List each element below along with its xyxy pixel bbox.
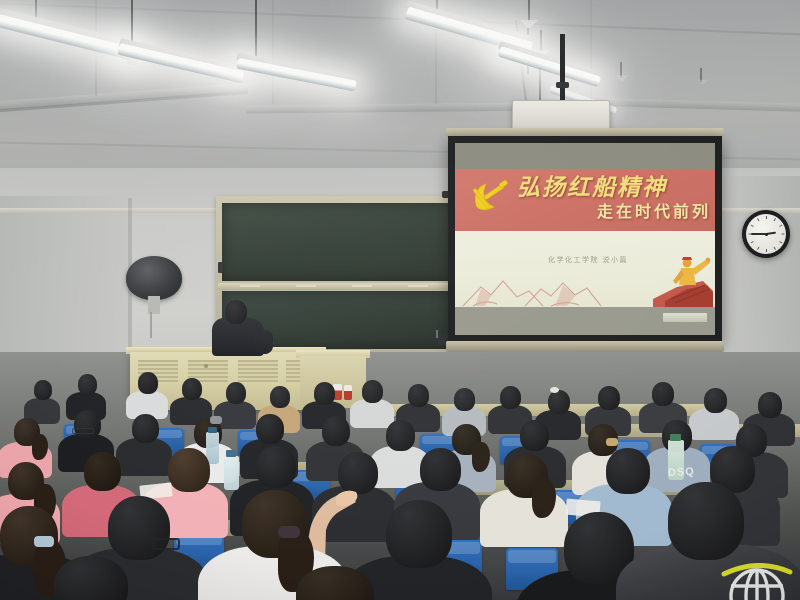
clock-center-hub	[765, 233, 768, 236]
person-head	[408, 384, 429, 407]
person-head	[270, 386, 290, 408]
slide-illustration-figure	[651, 251, 715, 307]
person-head	[168, 448, 210, 492]
person-head	[500, 386, 521, 409]
person-head	[704, 388, 727, 413]
person-head	[548, 390, 570, 414]
hammer-and-sickle-emblem	[471, 177, 511, 219]
globe-icon	[718, 556, 796, 600]
person-head	[34, 380, 52, 400]
blackboard-chalk-rail	[218, 283, 462, 290]
fan-icon	[126, 256, 182, 300]
eyeglasses-icon	[72, 428, 94, 434]
slide-byline: 化学化工学院 说小篇	[523, 255, 653, 265]
chalk-clip	[352, 285, 372, 287]
screen-bottom-bar	[446, 341, 724, 352]
slide-content: 弘扬红船精神 走在时代前列 化学化工学院 说小篇	[455, 143, 715, 335]
chalk-clip	[296, 285, 316, 287]
person-head	[362, 380, 383, 403]
person-head	[520, 420, 549, 451]
person-head	[322, 416, 350, 446]
slide-subtitle: 走在时代前列	[571, 203, 711, 222]
person-head	[138, 372, 158, 394]
person-head	[74, 410, 101, 439]
person-head	[606, 448, 650, 494]
eyeglasses-icon	[152, 538, 180, 550]
person-shoulders	[116, 438, 172, 476]
person-head	[84, 452, 121, 491]
slide-top-band	[455, 143, 715, 169]
bottle-icon	[344, 385, 352, 400]
person-head	[386, 420, 415, 451]
blackboard-upper-panel	[222, 203, 458, 281]
clock-tick	[774, 218, 776, 221]
bottle-cap	[670, 434, 681, 441]
person-head	[386, 500, 452, 568]
person-head	[652, 382, 674, 406]
bottle-cap	[208, 427, 217, 433]
bottle-icon	[224, 456, 239, 490]
person-head	[108, 496, 170, 560]
clock-tick	[779, 225, 782, 227]
slide-footer-badge	[663, 313, 707, 322]
person-head	[226, 382, 246, 404]
console-vent	[238, 360, 278, 384]
presenter-arm	[255, 330, 273, 354]
hair-tie	[550, 387, 559, 393]
projector-mount-clamp	[556, 82, 569, 88]
hair-tie	[606, 438, 618, 446]
light-rod	[528, 0, 530, 22]
slide-title: 弘扬红船精神	[517, 175, 707, 201]
clock-minute-hand	[751, 233, 766, 235]
seat-gloss	[422, 436, 454, 444]
person-head	[454, 388, 475, 411]
shirt-print-text: DSQ	[668, 465, 711, 480]
pendant-cone	[698, 80, 709, 85]
seat-gloss	[508, 550, 556, 563]
clock-tick	[751, 225, 754, 227]
chalk-clip	[408, 285, 428, 287]
person-head	[256, 414, 284, 444]
person-shoulders	[350, 399, 394, 428]
hair-tie	[278, 526, 300, 538]
mountain-line-art	[455, 273, 655, 307]
hair-clip	[210, 416, 222, 424]
clock-tick	[751, 241, 754, 243]
bottle-cap	[226, 450, 236, 457]
person-head	[668, 482, 744, 560]
person-head	[132, 414, 159, 443]
clock-tick	[757, 247, 759, 250]
light-rod	[540, 30, 542, 52]
person-head	[420, 448, 461, 491]
clock-tick	[779, 241, 782, 243]
clock-tick	[766, 249, 767, 252]
fan-pull-cord	[150, 312, 152, 338]
person-head	[182, 378, 202, 400]
clock-tick	[774, 247, 776, 250]
chalk-clip	[240, 285, 260, 287]
hair-tie	[34, 536, 54, 547]
ceiling-seam	[272, 0, 274, 104]
pendant-cone	[616, 75, 629, 81]
projector-mount-pole	[560, 34, 565, 106]
pendant-cone	[520, 20, 538, 29]
console-knob	[204, 364, 208, 368]
person-head	[758, 392, 782, 418]
clock-tick	[757, 218, 759, 221]
blackboard-latch	[218, 262, 223, 273]
person-head	[314, 382, 335, 405]
person-head	[598, 386, 620, 410]
lecture-hall-photograph: 弘扬红船精神 走在时代前列 化学化工学院 说小篇	[0, 0, 800, 600]
presenter-head	[225, 300, 247, 324]
clock-tick	[766, 216, 767, 219]
person-head	[78, 374, 97, 395]
clock-tick	[782, 234, 785, 235]
